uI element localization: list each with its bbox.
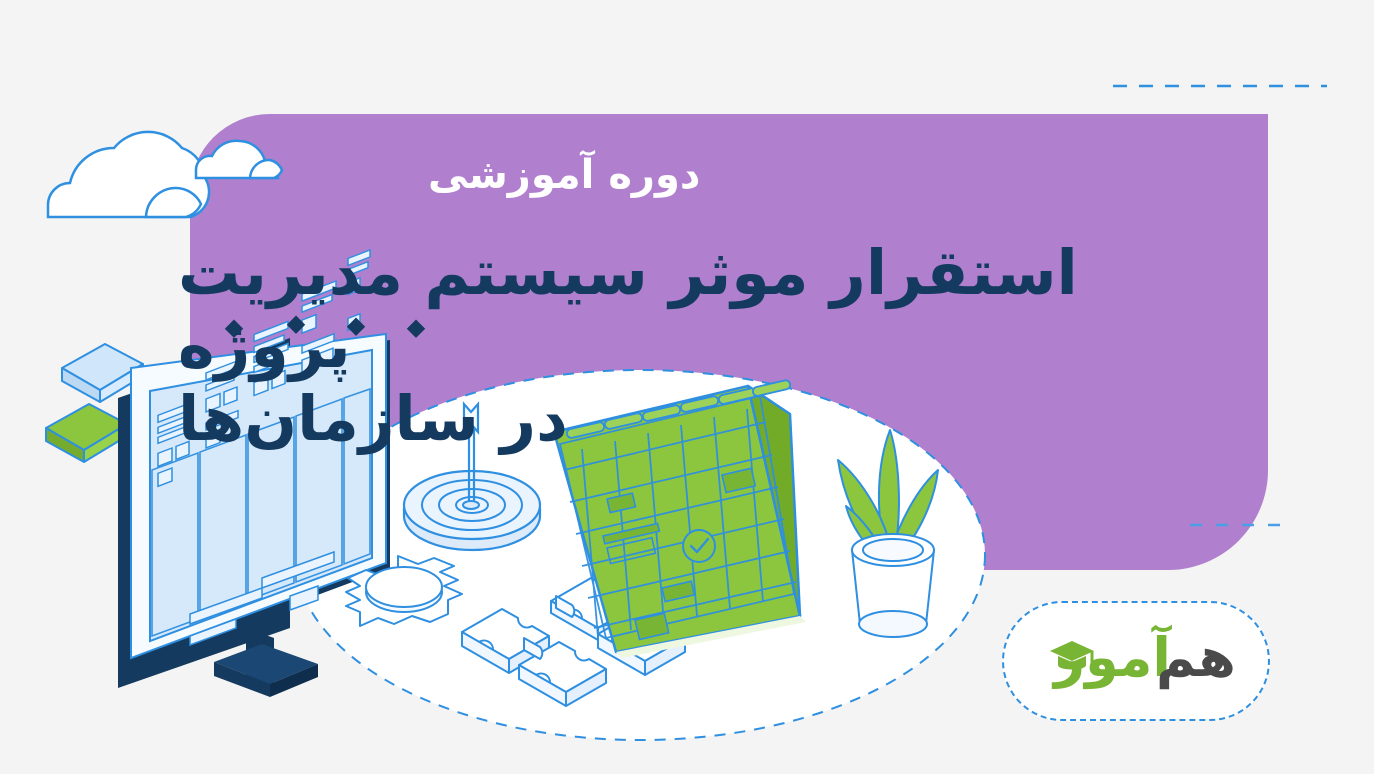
logo-text-amooz: آموز <box>1054 631 1171 685</box>
calendar-check-icon <box>683 530 715 562</box>
logo-text-ham: هم <box>1156 631 1236 685</box>
page-title: استقرار موثر سیستم مدیریت پروژه در سازما… <box>178 236 1188 455</box>
poster-canvas: دوره آموزشی استقرار موثر سیستم مدیریت پر… <box>0 0 1374 774</box>
page-title-line-2: در سازمان‌ها <box>178 382 1188 455</box>
brand-logo[interactable]: آموز هم هم‌آموز <box>1002 601 1270 721</box>
course-kicker: دوره آموزشی <box>428 152 1188 198</box>
page-title-line-1: استقرار موثر سیستم مدیریت پروژه <box>178 236 1078 382</box>
